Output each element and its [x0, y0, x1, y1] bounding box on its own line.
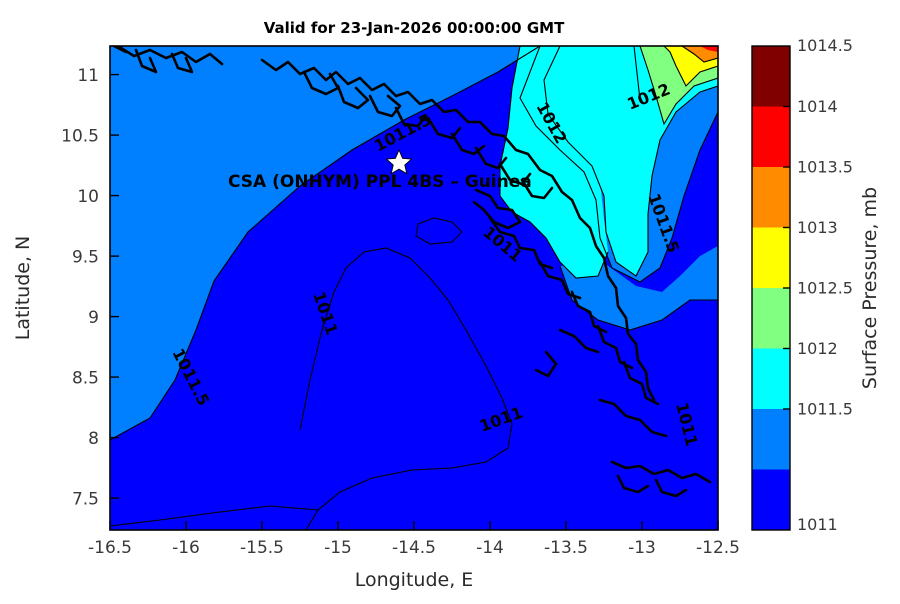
x-axis-title: Longitude, E: [355, 569, 474, 591]
x-tick-label--16.5: -16.5: [88, 538, 132, 558]
y-tick-label-11: 11: [77, 66, 99, 86]
y-tick-label-7.5: 7.5: [72, 490, 99, 510]
y-tick-label-9.5: 9.5: [72, 248, 99, 268]
colorbar-tick-label-1011.5: 1011.5: [797, 400, 853, 419]
y-tick-label-10: 10: [77, 187, 99, 207]
colorbar-band-1012: [752, 349, 790, 410]
colorbar-tick-label-1014: 1014: [797, 97, 838, 116]
y-tick-label-9: 9: [88, 308, 99, 328]
x-tick-label--15.5: -15.5: [240, 538, 284, 558]
colorbar-tick-label-1012: 1012: [797, 339, 838, 358]
colorbar-band-1013.5: [752, 167, 790, 228]
map-plot-area: 1011.5 1011.5 1011.5 1012 1012 1011 1011…: [110, 46, 718, 530]
colorbar-band-1011: [752, 470, 790, 531]
colorbar-band-1011.5: [752, 409, 790, 470]
colorbar-tick-label-1013: 1013: [797, 218, 838, 237]
colorbar-tick-label-1012.5: 1012.5: [797, 279, 853, 298]
y-tick-label-8.5: 8.5: [72, 369, 99, 389]
colorbar-tick-label-1013.5: 1013.5: [797, 158, 853, 177]
x-tick-label--14.5: -14.5: [392, 538, 436, 558]
surface-pressure-map: Valid for 23-Jan-2026 00:00:00 GMT: [0, 0, 900, 600]
colorbar-band-1014.5: [752, 46, 790, 107]
colorbar-tick-label-1011: 1011: [797, 515, 838, 534]
colorbar-band-1012.5: [752, 288, 790, 349]
x-tick-label--13.5: -13.5: [544, 538, 588, 558]
colorbar-band-1013: [752, 228, 790, 289]
x-tick-label--14: -14: [476, 538, 504, 558]
site-marker-label: CSA (ONHYM) PPL 4BS – Guinea: [228, 172, 532, 192]
colorbar-band-1014: [752, 107, 790, 168]
x-tick-label--13: -13: [628, 538, 656, 558]
y-tick-label-8: 8: [88, 429, 99, 449]
x-tick-label--15: -15: [324, 538, 352, 558]
figure-canvas: Valid for 23-Jan-2026 00:00:00 GMT: [0, 0, 900, 600]
y-tick-label-10.5: 10.5: [61, 127, 99, 147]
x-tick-label--12.5: -12.5: [696, 538, 740, 558]
x-tick-label--16: -16: [172, 538, 200, 558]
y-axis-title: Latitude, N: [12, 236, 34, 341]
colorbar-title: Surface Pressure, mb: [859, 187, 881, 389]
colorbar-tick-label-1014.5: 1014.5: [797, 36, 853, 55]
chart-title: Valid for 23-Jan-2026 00:00:00 GMT: [264, 19, 565, 37]
